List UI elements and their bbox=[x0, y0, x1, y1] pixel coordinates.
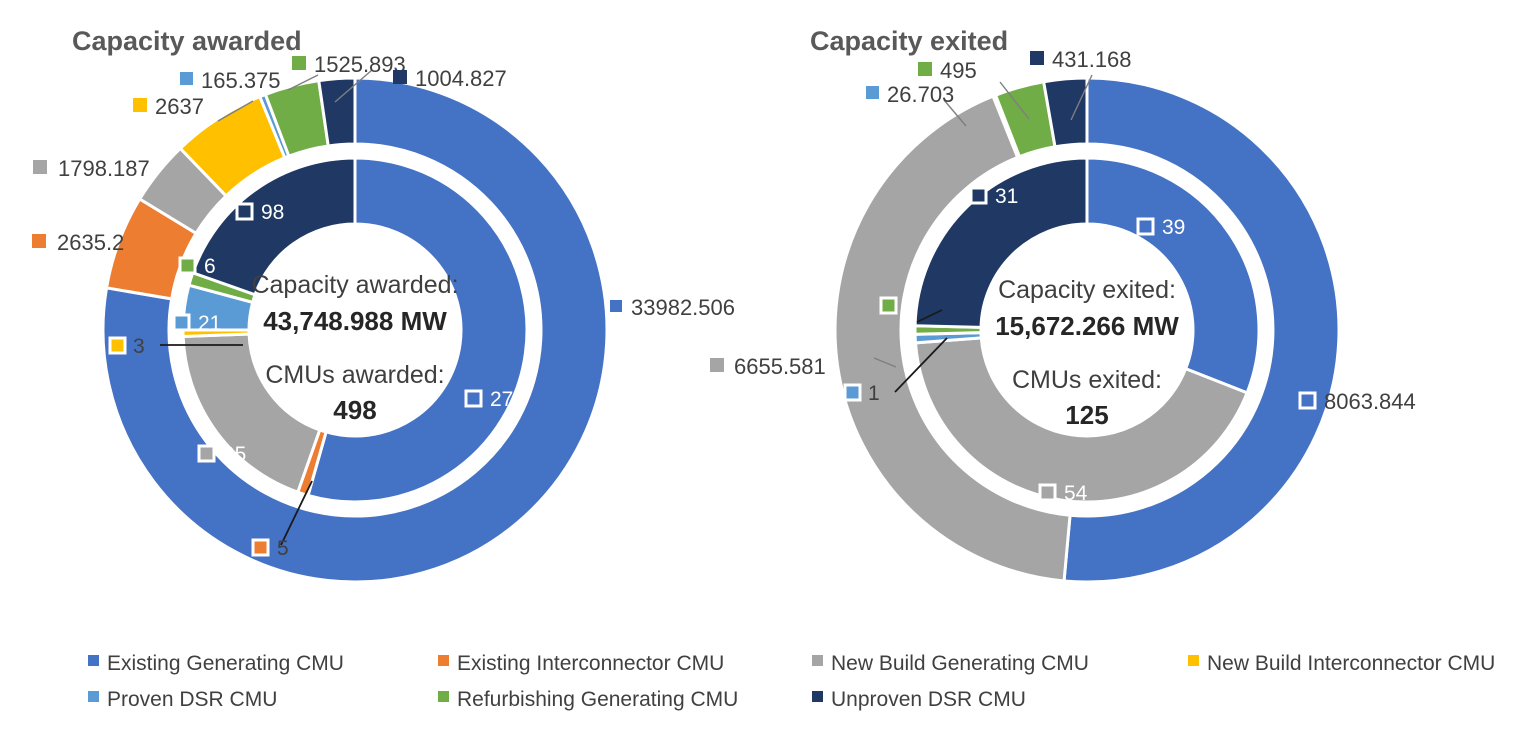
inner-marker-new-build-interconnector bbox=[110, 338, 125, 353]
label-marker-refurbishing-generating-exited bbox=[918, 62, 932, 76]
label-marker-new-build-generating-exited bbox=[710, 358, 724, 372]
inner-marker-new-build-generating-exited bbox=[1040, 485, 1055, 500]
inner-value-unproven-dsr: 98 bbox=[261, 201, 284, 224]
label-marker-proven-dsr bbox=[180, 72, 193, 85]
legend-label-existing-interconnector: Existing Interconnector CMU bbox=[457, 652, 724, 675]
legend-swatch-unproven-dsr bbox=[812, 691, 823, 702]
inner-value-new-build-generating: 95 bbox=[223, 443, 246, 466]
inner-marker-unproven-dsr-exited bbox=[971, 188, 986, 203]
inner-marker-refurbishing-generating bbox=[180, 258, 195, 273]
inner-value-existing-interconnector: 5 bbox=[277, 537, 289, 560]
dual-donut-chart-canvas: Capacity awarded bbox=[0, 0, 1536, 736]
inner-value-unproven-dsr-exited: 31 bbox=[995, 185, 1018, 208]
label-marker-existing-generating-exited bbox=[1300, 393, 1315, 408]
center-capacity-caption-exited: Capacity exited: bbox=[998, 276, 1176, 304]
outer-value-new-build-generating: 1798.187 bbox=[58, 156, 150, 181]
inner-marker-existing-generating-exited bbox=[1138, 219, 1153, 234]
inner-value-proven-dsr-exited: 1 bbox=[868, 382, 880, 405]
inner-value-proven-dsr: 21 bbox=[198, 312, 221, 335]
chart-title-capacity-awarded: Capacity awarded bbox=[72, 26, 302, 56]
center-text-capacity-exited: Capacity exited: 15,672.266 MW CMUs exit… bbox=[995, 276, 1179, 430]
inner-marker-new-build-generating bbox=[199, 446, 214, 461]
legend-item-existing-interconnector[interactable]: Existing Interconnector CMU bbox=[438, 652, 724, 675]
label-marker-refurbishing-generating bbox=[292, 56, 306, 70]
legend-swatch-refurbishing-generating bbox=[438, 691, 449, 702]
legend-swatch-existing-interconnector bbox=[438, 655, 449, 666]
label-marker-existing-interconnector bbox=[32, 234, 46, 248]
legend-item-unproven-dsr[interactable]: Unproven DSR CMU bbox=[812, 688, 1026, 711]
outer-value-unproven-dsr-exited: 431.168 bbox=[1052, 47, 1132, 72]
chart-capacity-exited: Capacity exited bbox=[710, 26, 1416, 582]
legend-item-refurbishing-generating[interactable]: Refurbishing Generating CMU bbox=[438, 688, 738, 711]
inner-value-refurbishing-generating-exited: 1 bbox=[905, 295, 917, 318]
chart-title-capacity-exited: Capacity exited bbox=[810, 26, 1008, 56]
legend-swatch-proven-dsr bbox=[88, 691, 99, 702]
chart-legend: Existing Generating CMU Existing Interco… bbox=[88, 652, 1495, 711]
center-cmus-caption-exited: CMUs exited: bbox=[1012, 366, 1162, 394]
center-capacity-value-exited: 15,672.266 MW bbox=[995, 311, 1179, 341]
label-marker-existing-generating bbox=[610, 300, 622, 312]
legend-label-existing-generating: Existing Generating CMU bbox=[107, 652, 344, 675]
inner-value-new-build-interconnector: 3 bbox=[133, 335, 145, 358]
outer-value-proven-dsr: 165.375 bbox=[201, 68, 281, 93]
outer-value-existing-generating-exited: 8063.844 bbox=[1324, 389, 1416, 414]
label-marker-proven-dsr-exited bbox=[866, 86, 879, 99]
legend-item-new-build-generating[interactable]: New Build Generating CMU bbox=[812, 652, 1089, 675]
outer-value-refurbishing-generating-exited: 495 bbox=[940, 58, 977, 83]
outer-value-existing-interconnector: 2635.2 bbox=[57, 230, 124, 255]
legend-label-new-build-interconnector: New Build Interconnector CMU bbox=[1207, 652, 1495, 675]
outer-value-existing-generating: 33982.506 bbox=[631, 295, 735, 320]
legend-item-new-build-interconnector[interactable]: New Build Interconnector CMU bbox=[1188, 652, 1495, 675]
center-capacity-value-awarded: 43,748.988 MW bbox=[263, 306, 447, 336]
center-cmus-caption-awarded: CMUs awarded: bbox=[265, 361, 444, 389]
legend-swatch-new-build-interconnector bbox=[1188, 655, 1199, 666]
inner-value-existing-generating-exited: 39 bbox=[1162, 216, 1185, 239]
inner-value-existing-generating: 272 bbox=[490, 388, 525, 411]
outer-value-proven-dsr-exited: 26.703 bbox=[887, 82, 954, 107]
legend-label-unproven-dsr: Unproven DSR CMU bbox=[831, 688, 1026, 711]
center-text-capacity-awarded: Capacity awarded: 43,748.988 MW CMUs awa… bbox=[251, 271, 458, 425]
outer-value-new-build-interconnector: 2637 bbox=[155, 94, 204, 119]
outer-value-unproven-dsr: 1004.827 bbox=[415, 66, 507, 91]
inner-marker-refurbishing-generating-exited bbox=[881, 298, 896, 313]
label-marker-unproven-dsr bbox=[393, 70, 407, 84]
inner-marker-unproven-dsr bbox=[237, 204, 252, 219]
legend-item-proven-dsr[interactable]: Proven DSR CMU bbox=[88, 688, 277, 711]
inner-marker-proven-dsr-exited bbox=[845, 385, 860, 400]
legend-label-new-build-generating: New Build Generating CMU bbox=[831, 652, 1089, 675]
legend-swatch-existing-generating bbox=[88, 655, 99, 666]
center-capacity-caption-awarded: Capacity awarded: bbox=[251, 271, 458, 299]
label-marker-new-build-interconnector bbox=[133, 98, 147, 112]
inner-value-refurbishing-generating: 6 bbox=[204, 255, 216, 278]
label-marker-new-build-generating bbox=[33, 160, 47, 174]
label-marker-unproven-dsr-exited bbox=[1030, 51, 1044, 65]
inner-value-new-build-generating-exited: 54 bbox=[1064, 482, 1088, 505]
legend-label-refurbishing-generating: Refurbishing Generating CMU bbox=[457, 688, 738, 711]
center-cmus-value-awarded: 498 bbox=[333, 395, 376, 425]
outer-value-new-build-generating-exited: 6655.581 bbox=[734, 354, 826, 379]
inner-marker-existing-generating bbox=[466, 391, 481, 406]
legend-item-existing-generating[interactable]: Existing Generating CMU bbox=[88, 652, 344, 675]
legend-swatch-new-build-generating bbox=[812, 655, 823, 666]
outer-value-refurbishing-generating: 1525.893 bbox=[314, 52, 406, 77]
inner-marker-proven-dsr bbox=[174, 315, 189, 330]
chart-capacity-awarded: Capacity awarded bbox=[32, 26, 735, 582]
inner-marker-existing-interconnector bbox=[253, 540, 268, 555]
center-cmus-value-exited: 125 bbox=[1065, 400, 1108, 430]
legend-label-proven-dsr: Proven DSR CMU bbox=[107, 688, 277, 711]
